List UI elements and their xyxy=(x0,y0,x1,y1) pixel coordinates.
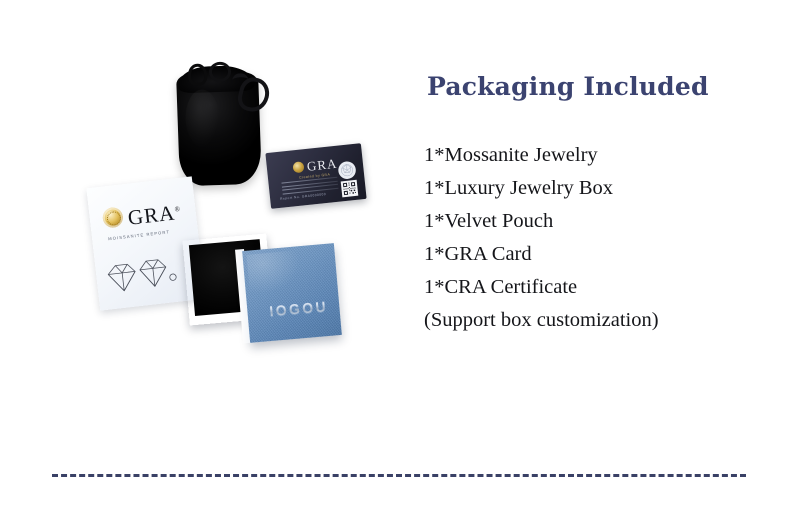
list-item: 1*CRA Certificate xyxy=(424,271,774,304)
gra-card-image: GRA Created by GRA Report No. GRA0000000 xyxy=(265,143,366,209)
packaging-text-panel: Packaging Included 1*Mossanite Jewelry 1… xyxy=(424,72,774,337)
list-item: 1*Luxury Jewelry Box xyxy=(424,172,774,205)
certificate-subtitle: MOISSANITE REPORT xyxy=(108,229,170,241)
diamond-diagram-icon xyxy=(103,255,178,297)
product-photo-composition: GRA® MOISSANITE REPORT GRA Created by GR… xyxy=(0,0,400,420)
velvet-pouch-image xyxy=(176,72,262,187)
list-item: (Support box customization) xyxy=(424,304,774,337)
certificate-brand: GRA® xyxy=(127,200,183,231)
gra-card-brand: GRA xyxy=(306,156,338,175)
certificate-brand-text: GRA xyxy=(127,201,177,230)
pouch-drawstring-loop-left xyxy=(188,63,208,86)
lid-highlight xyxy=(246,250,301,294)
qr-code-icon xyxy=(341,180,359,198)
diamond-photo-icon xyxy=(337,160,358,181)
pouch-highlight xyxy=(185,89,221,148)
list-item: 1*Mossanite Jewelry xyxy=(424,139,774,172)
packaging-item-list: 1*Mossanite Jewelry 1*Luxury Jewelry Box… xyxy=(424,139,774,337)
jewelry-box-lid-image: IOGOU xyxy=(242,243,342,343)
gra-card-seal-icon xyxy=(292,161,304,173)
list-item: 1*GRA Card xyxy=(424,238,774,271)
gra-seal-icon xyxy=(102,207,124,229)
page-title: Packaging Included xyxy=(427,72,774,101)
list-item: 1*Velvet Pouch xyxy=(424,205,774,238)
packaging-included-banner: GRA® MOISSANITE REPORT GRA Created by GR… xyxy=(0,0,800,510)
dashed-divider xyxy=(52,474,746,477)
certificate-trademark: ® xyxy=(174,205,181,214)
